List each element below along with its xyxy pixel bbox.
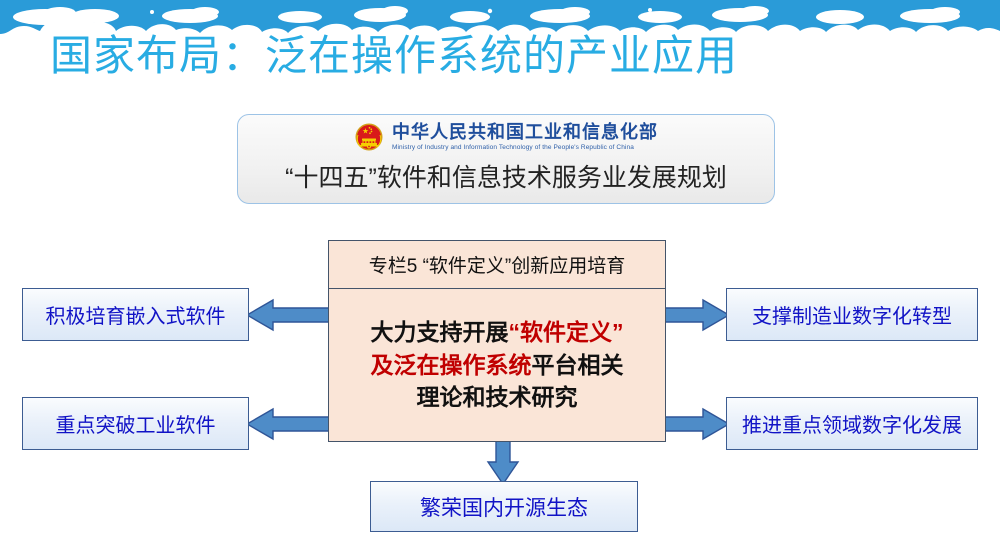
central-policy-box: 专栏5 “软件定义”创新应用培育 大力支持开展“软件定义” 及泛在操作系统平台相… <box>328 240 666 442</box>
central-body-line2-highlight: 及泛在操作系统 <box>371 352 532 378</box>
central-body-line3-plain: 理论和技术研究 <box>417 384 578 410</box>
arrow-left-icon <box>247 407 331 441</box>
central-body-line1-plain: 大力支持开展 <box>371 319 509 345</box>
policy-plan-title: “十四五”软件和信息技术服务业发展规划 <box>238 163 774 193</box>
arrow-left-icon <box>247 298 331 332</box>
ministry-header: 中华人民共和国工业和信息化部 Ministry of Industry and … <box>238 122 774 152</box>
outcome-box-right-1[interactable]: 支撑制造业数字化转型 <box>726 288 978 341</box>
page-title: 国家布局：泛在操作系统的产业应用 <box>50 32 738 80</box>
china-national-emblem-icon <box>354 122 384 152</box>
policy-card: 中华人民共和国工业和信息化部 Ministry of Industry and … <box>237 114 775 204</box>
arrow-down-icon <box>486 440 520 484</box>
slide-canvas: 国家布局：泛在操作系统的产业应用 <box>0 0 1000 552</box>
outcome-box-bottom[interactable]: 繁荣国内开源生态 <box>370 481 638 532</box>
outcome-box-right-2[interactable]: 推进重点领域数字化发展 <box>726 397 978 450</box>
central-body-line2-plain: 平台相关 <box>532 352 624 378</box>
central-box-header: 专栏5 “软件定义”创新应用培育 <box>329 241 665 289</box>
ministry-name-cn: 中华人民共和国工业和信息化部 <box>392 123 658 143</box>
central-box-body: 大力支持开展“软件定义” 及泛在操作系统平台相关 理论和技术研究 <box>329 289 665 441</box>
central-body-text: 大力支持开展“软件定义” 及泛在操作系统平台相关 理论和技术研究 <box>371 316 624 414</box>
ministry-name-en: Ministry of Industry and Information Tec… <box>392 144 658 151</box>
ministry-name-block: 中华人民共和国工业和信息化部 Ministry of Industry and … <box>392 123 658 152</box>
arrow-right-icon <box>663 407 729 441</box>
outcome-box-left-1[interactable]: 积极培育嵌入式软件 <box>22 288 249 341</box>
outcome-box-left-2[interactable]: 重点突破工业软件 <box>22 397 249 450</box>
arrow-right-icon <box>663 298 729 332</box>
central-body-line1-highlight: “软件定义” <box>509 319 624 345</box>
